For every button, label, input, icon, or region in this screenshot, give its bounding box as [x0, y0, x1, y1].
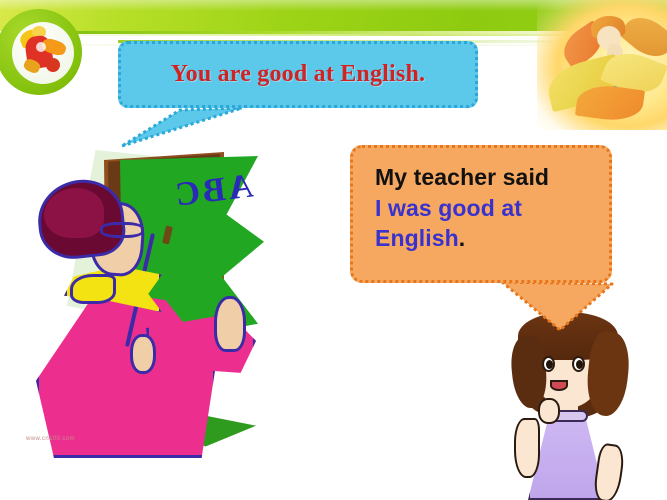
slide-canvas: ABC www.cn100.com: [0, 0, 667, 500]
teacher-scarf-knot: [70, 274, 116, 304]
girl-pupil-left: [546, 360, 553, 369]
girl-speech-line-1: My teacher said: [375, 162, 609, 193]
teacher-illustration: ABC www.cn100.com: [18, 140, 283, 460]
teacher-glasses: [100, 222, 144, 238]
girl-bubble-tail: [500, 280, 620, 332]
girl-speech-line-3-period: .: [459, 225, 466, 251]
badge-shape-highlight: [36, 42, 46, 52]
teacher-speech-bubble: You are good at English.: [118, 41, 478, 108]
girl-speech-line-2: I was good at: [375, 193, 609, 224]
girl-hand-at-chin: [538, 398, 560, 424]
teacher-hair-highlight: [44, 188, 104, 238]
girl-pupil-right: [576, 360, 583, 369]
teacher-hand-holding-pointer: [130, 334, 156, 374]
badge-shape-crimson: [46, 58, 60, 72]
girl-speech-line-3: English.: [375, 223, 609, 254]
teacher-bubble-tail: [118, 106, 248, 148]
girl-mouth: [550, 380, 568, 391]
girl-speech-line-3-word: English: [375, 225, 459, 251]
teacher-raised-hand: [214, 296, 246, 352]
girl-speech-bubble: My teacher said I was good at English.: [350, 145, 612, 283]
girl-illustration: [496, 306, 656, 500]
top-right-artwork: [537, 0, 667, 130]
badge-inner-circle: [12, 22, 74, 84]
teacher-speech-text: You are good at English.: [171, 61, 425, 88]
watermark-text: www.cn100.com: [26, 436, 75, 442]
girl-arm-right: [592, 442, 626, 500]
girl-arm-left: [514, 418, 540, 478]
